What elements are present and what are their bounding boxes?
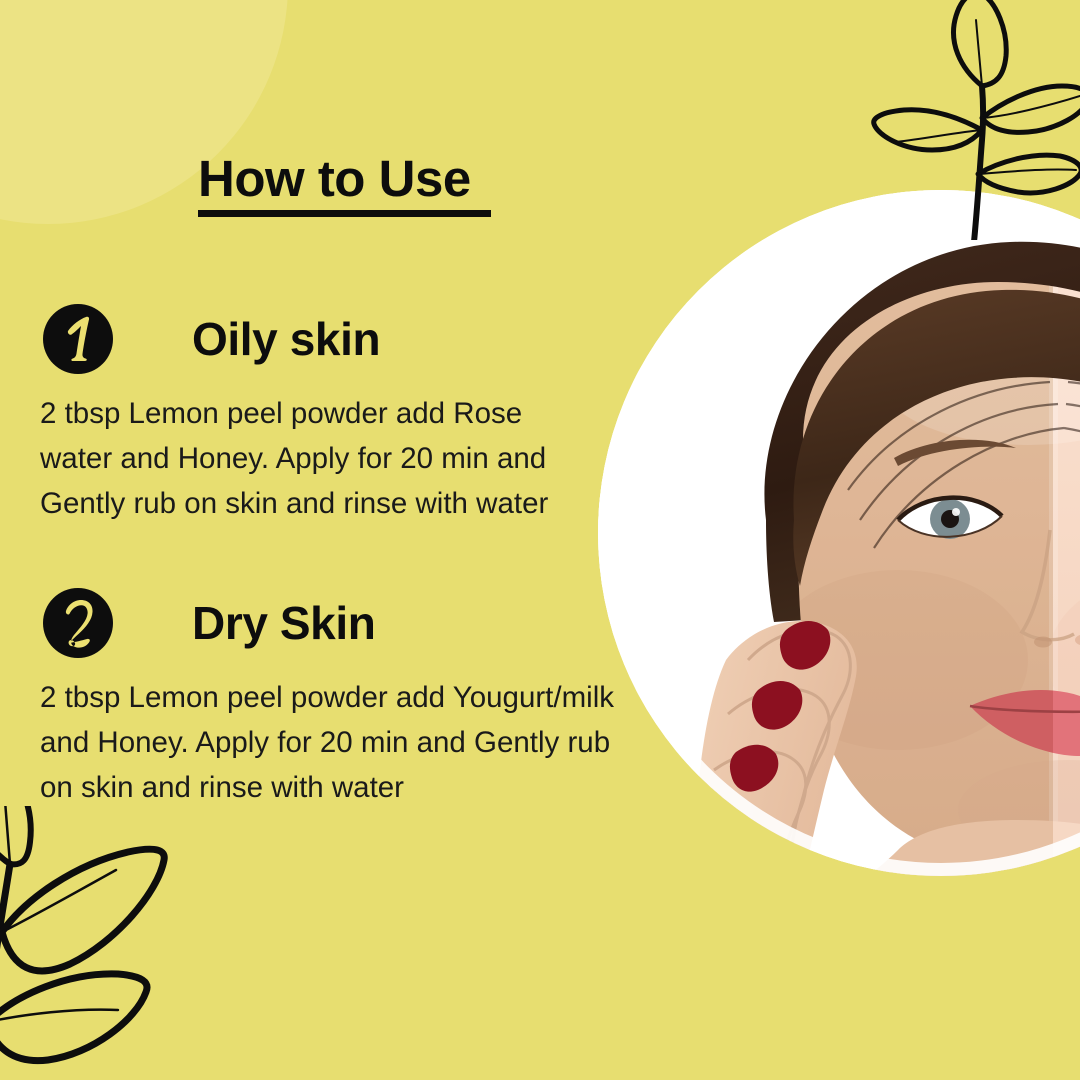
step-item-2: Dry Skin 2 tbsp Lemon peel powder add Yo…: [0, 580, 640, 810]
portrait-illustration: [598, 190, 1080, 876]
title-underline-rule: [198, 210, 491, 217]
number-two-badge-icon: [42, 587, 114, 659]
step-1-body-text: 2 tbsp Lemon peel powder add Rose water …: [40, 392, 600, 526]
content-column: How to Use Oily skin 2 tbsp Lemon peel p…: [0, 0, 660, 1080]
step-item-1: Oily skin 2 tbsp Lemon peel powder add R…: [0, 296, 640, 526]
page-title: How to Use: [198, 152, 498, 206]
step-2-body-text: 2 tbsp Lemon peel powder add Yougurt/mil…: [40, 676, 628, 810]
step-1-header: Oily skin: [0, 296, 640, 382]
step-2-heading: Dry Skin: [192, 600, 375, 646]
number-one-badge-icon: [42, 303, 114, 375]
step-2-header: Dry Skin: [0, 580, 640, 666]
step-1-heading: Oily skin: [192, 316, 380, 362]
page-title-block: How to Use: [198, 152, 498, 217]
before-after-face-photo: [598, 190, 1080, 876]
how-to-use-poster: How to Use Oily skin 2 tbsp Lemon peel p…: [0, 0, 1080, 1080]
